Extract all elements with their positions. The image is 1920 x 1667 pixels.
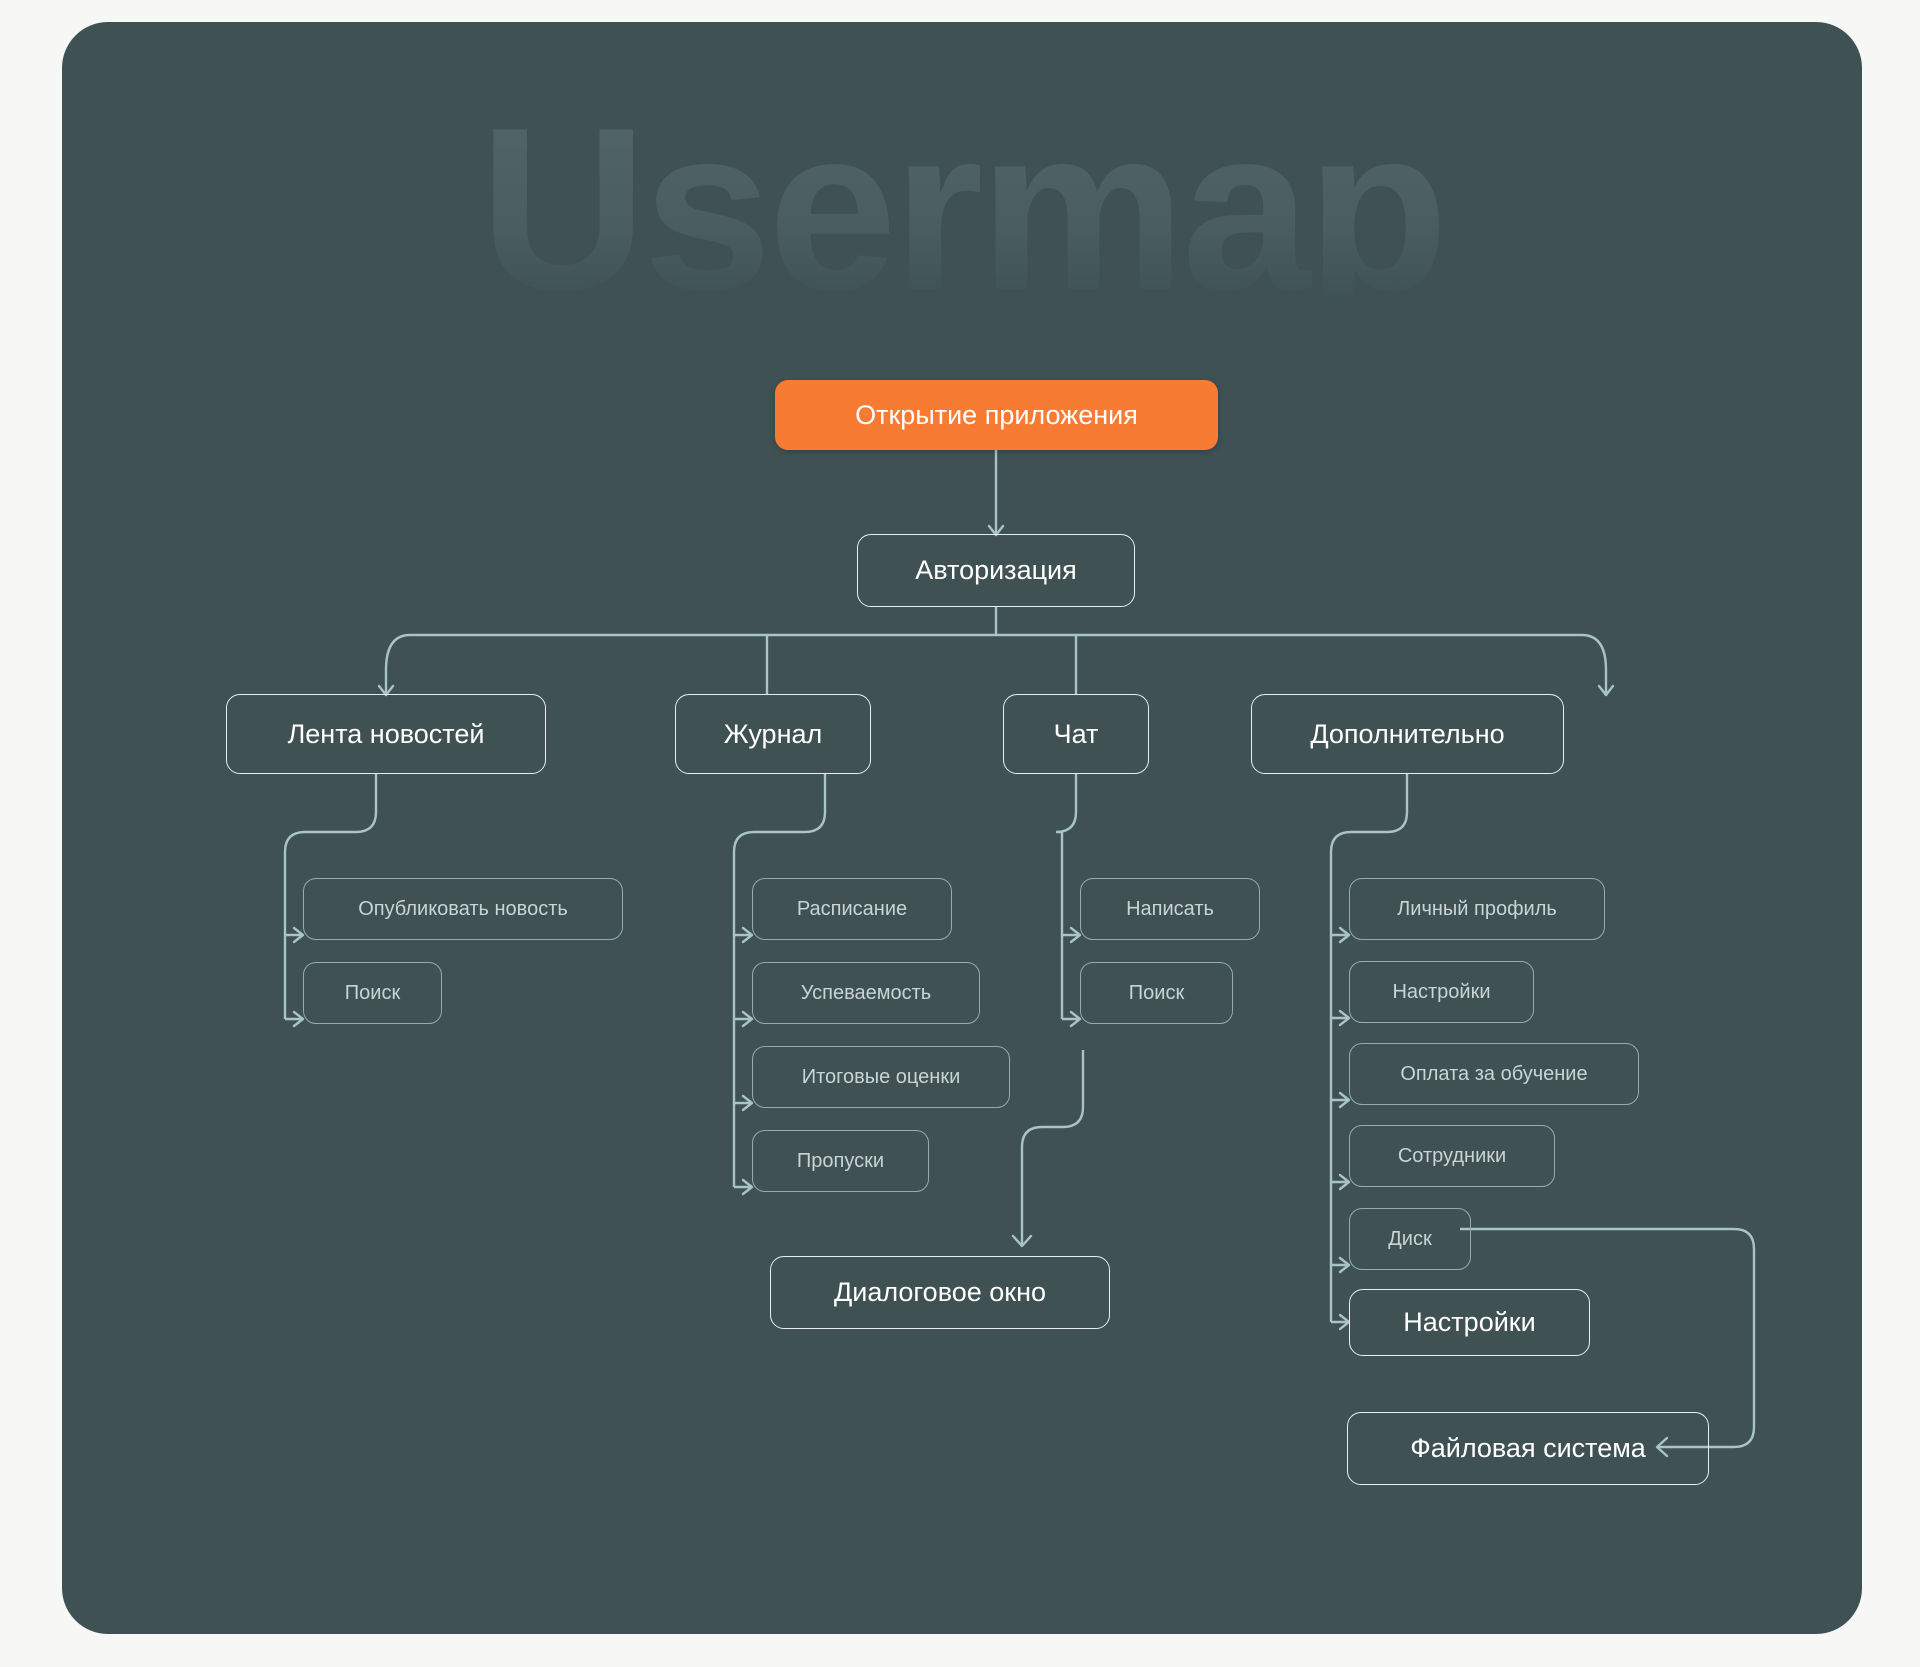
- node-extra[interactable]: Дополнительно: [1251, 694, 1564, 774]
- node-dialog-window[interactable]: Диалоговое окно: [770, 1256, 1110, 1329]
- node-label: Чат: [1054, 719, 1099, 750]
- node-label: Личный профиль: [1397, 898, 1557, 921]
- node-publish-news[interactable]: Опубликовать новость: [303, 878, 623, 940]
- node-write-message[interactable]: Написать: [1080, 878, 1260, 940]
- node-label: Оплата за обучение: [1400, 1063, 1587, 1086]
- node-final-grades[interactable]: Итоговые оценки: [752, 1046, 1010, 1108]
- node-label: Написать: [1126, 898, 1214, 921]
- node-label: Настройки: [1403, 1307, 1535, 1338]
- node-label: Диск: [1388, 1228, 1431, 1251]
- diagram-canvas: Usermap: [0, 0, 1920, 1667]
- node-label: Диалоговое окно: [834, 1277, 1046, 1308]
- node-label: Поиск: [345, 982, 400, 1005]
- node-feed-search[interactable]: Поиск: [303, 962, 442, 1024]
- node-label: Файловая система: [1410, 1433, 1646, 1464]
- connector-layer: [62, 22, 1862, 1634]
- node-journal[interactable]: Журнал: [675, 694, 871, 774]
- node-absences[interactable]: Пропуски: [752, 1130, 929, 1192]
- node-file-system[interactable]: Файловая система: [1347, 1412, 1709, 1485]
- node-label: Успеваемость: [801, 982, 931, 1005]
- node-label: Поиск: [1129, 982, 1184, 1005]
- node-extra-settings[interactable]: Настройки: [1349, 961, 1534, 1023]
- node-label: Настройки: [1392, 981, 1490, 1004]
- usermap-watermark: Usermap: [62, 94, 1862, 326]
- node-personal-profile[interactable]: Личный профиль: [1349, 878, 1605, 940]
- diagram-card: Usermap: [62, 22, 1862, 1634]
- node-label: Дополнительно: [1310, 719, 1504, 750]
- node-label: Авторизация: [915, 555, 1077, 586]
- node-label: Сотрудники: [1398, 1145, 1506, 1168]
- node-label: Опубликовать новость: [358, 898, 568, 921]
- node-authorization[interactable]: Авторизация: [857, 534, 1135, 607]
- node-tuition-payment[interactable]: Оплата за обучение: [1349, 1043, 1639, 1105]
- node-staff[interactable]: Сотрудники: [1349, 1125, 1555, 1187]
- node-label: Лента новостей: [288, 719, 485, 750]
- node-chat-search[interactable]: Поиск: [1080, 962, 1233, 1024]
- node-label: Пропуски: [797, 1150, 884, 1173]
- node-disk[interactable]: Диск: [1349, 1208, 1471, 1270]
- node-settings-screen[interactable]: Настройки: [1349, 1289, 1590, 1356]
- node-label: Журнал: [724, 719, 823, 750]
- node-label: Расписание: [797, 898, 907, 921]
- node-label: Итоговые оценки: [802, 1066, 961, 1089]
- node-chat[interactable]: Чат: [1003, 694, 1149, 774]
- node-schedule[interactable]: Расписание: [752, 878, 952, 940]
- node-label: Открытие приложения: [855, 400, 1138, 431]
- node-academic-progress[interactable]: Успеваемость: [752, 962, 980, 1024]
- node-news-feed[interactable]: Лента новостей: [226, 694, 546, 774]
- node-start-open-app[interactable]: Открытие приложения: [775, 380, 1218, 450]
